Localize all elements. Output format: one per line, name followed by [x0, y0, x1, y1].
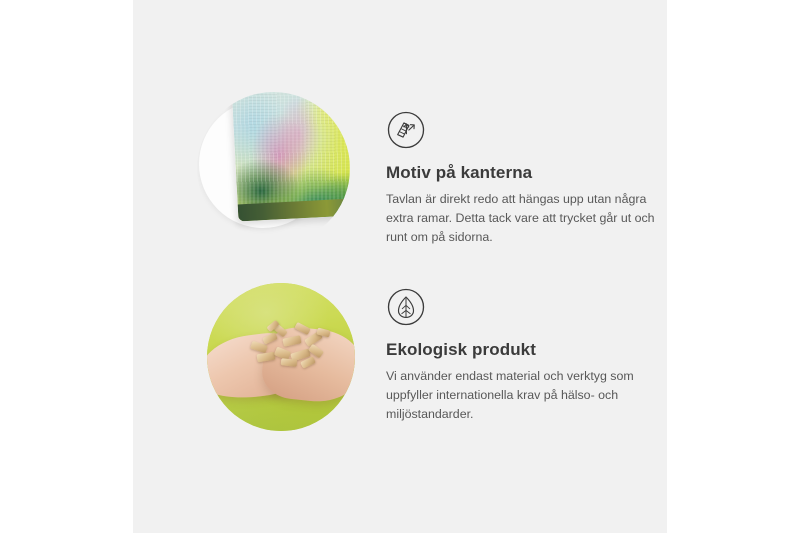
- wood-chips-pile: [247, 321, 337, 371]
- canvas-print-corner-photo: [197, 92, 350, 245]
- hands-with-wood-chips-photo: [207, 283, 355, 431]
- feature-title: Ekologisk produkt: [386, 340, 666, 360]
- feature-description: Vi använder endast material och verktyg …: [386, 367, 658, 424]
- leaf-icon: [386, 287, 426, 327]
- feature-row-2: [207, 283, 355, 431]
- feature-text-1: Motiv på kanterna Tavlan är direkt redo …: [386, 110, 666, 247]
- feature-description: Tavlan är direkt redo att hängas upp uta…: [386, 190, 658, 247]
- feature-title: Motiv på kanterna: [386, 163, 666, 183]
- content-panel: [133, 0, 667, 533]
- canvas-wrapped-edges-icon: [386, 110, 426, 150]
- feature-row-1: [197, 92, 350, 245]
- canvas-print-object: [232, 92, 350, 221]
- feature-text-2: Ekologisk produkt Vi använder endast mat…: [386, 287, 666, 424]
- product-feature-panel: Motiv på kanterna Tavlan är direkt redo …: [0, 0, 800, 533]
